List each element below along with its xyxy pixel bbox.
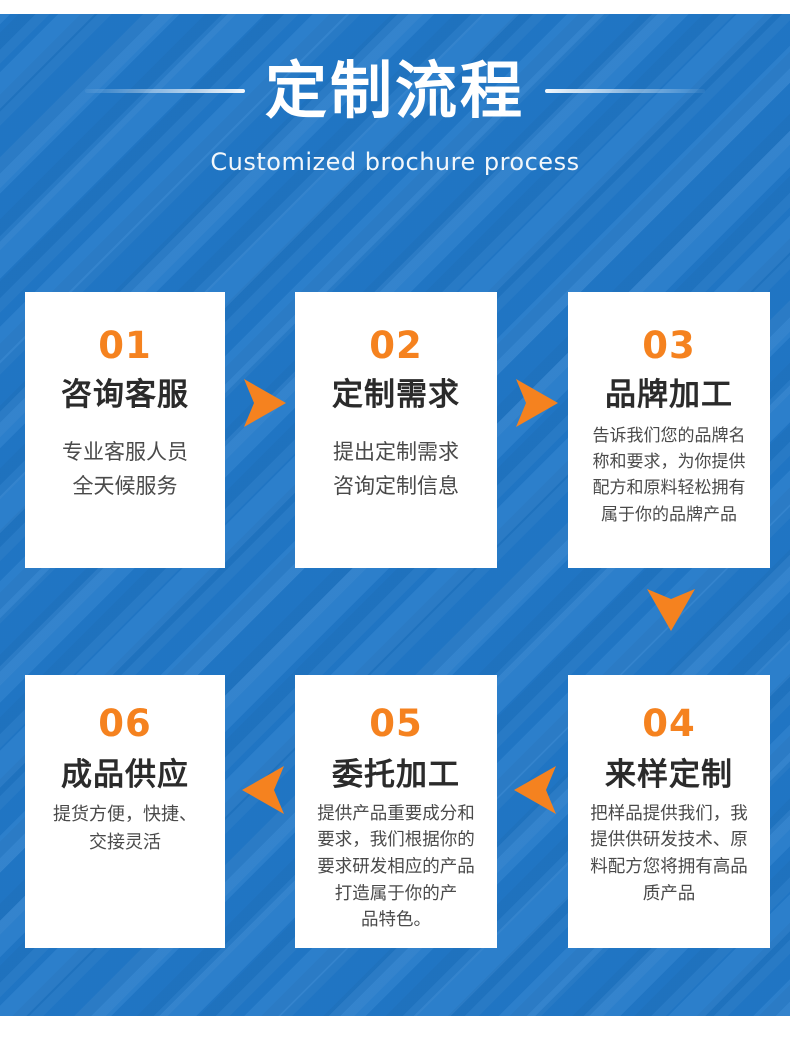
desc-line: 全天候服务 [35,469,215,504]
arrow-left-icon [512,762,560,818]
step-description: 专业客服人员 全天候服务 [35,435,215,504]
steps-row-top: 01 咨询客服 专业客服人员 全天候服务 02 定制需求 提出定制需求 咨询定制… [0,292,790,568]
step-card-04[interactable]: 04 来样定制 把样品提供我们，我 提供供研发技术、原 料配方您将拥有高品 质产… [568,675,770,948]
step-title: 委托加工 [305,758,487,793]
page-subtitle: Customized brochure process [0,148,790,176]
step-card-02[interactable]: 02 定制需求 提出定制需求 咨询定制信息 [295,292,497,568]
desc-line: 提供供研发技术、原 [578,827,760,854]
desc-line: 配方和原料轻松拥有 [578,475,760,501]
desc-line: 要求，我们根据你的 [305,827,487,854]
steps-row-bottom: 06 成品供应 提货方便，快捷、 交接灵活 05 委托加工 提供产品重要成分和 … [0,675,790,948]
step-title: 来样定制 [578,758,760,793]
step-number: 01 [35,327,215,364]
desc-line: 质产品 [578,881,760,908]
arrow-right-icon [512,375,560,431]
desc-line: 告诉我们您的品牌名 [578,423,760,449]
desc-line: 料配方您将拥有高品 [578,854,760,881]
header: 定制流程 Customized brochure process [0,60,790,176]
step-number: 03 [578,327,760,364]
desc-line: 提出定制需求 [305,435,487,470]
decorative-line-left [85,89,245,93]
desc-line: 提货方便，快捷、 [35,801,215,829]
step-description: 提货方便，快捷、 交接灵活 [35,801,215,857]
step-description: 提出定制需求 咨询定制信息 [305,435,487,504]
desc-line: 专业客服人员 [35,435,215,470]
step-title: 成品供应 [35,758,215,793]
desc-line: 咨询定制信息 [305,469,487,504]
step-number: 02 [305,327,487,364]
desc-line: 要求研发相应的产品 [305,854,487,881]
step-description: 告诉我们您的品牌名 称和要求，为你提供 配方和原料轻松拥有 属于你的品牌产品 [578,423,760,528]
step-description: 把样品提供我们，我 提供供研发技术、原 料配方您将拥有高品 质产品 [578,801,760,907]
step-card-01[interactable]: 01 咨询客服 专业客服人员 全天候服务 [25,292,225,568]
decorative-line-right [545,89,705,93]
step-number: 05 [305,705,487,742]
arrow-left-icon [240,762,288,818]
desc-line: 品特色。 [305,907,487,934]
desc-line: 打造属于你的产 [305,881,487,908]
step-description: 提供产品重要成分和 要求，我们根据你的 要求研发相应的产品 打造属于你的产 品特… [305,801,487,934]
page-title: 定制流程 [265,60,525,122]
arrow-right-icon [240,375,288,431]
customization-process-banner: 定制流程 Customized brochure process 01 咨询客服… [0,0,790,1058]
step-number: 06 [35,705,215,742]
step-number: 04 [578,705,760,742]
arrow-down-icon [643,585,699,633]
desc-line: 交接灵活 [35,829,215,857]
step-title: 品牌加工 [578,378,760,413]
desc-line: 提供产品重要成分和 [305,801,487,828]
desc-line: 称和要求，为你提供 [578,449,760,475]
title-row: 定制流程 [0,60,790,122]
step-title: 定制需求 [305,378,487,413]
desc-line: 属于你的品牌产品 [578,502,760,528]
step-card-03[interactable]: 03 品牌加工 告诉我们您的品牌名 称和要求，为你提供 配方和原料轻松拥有 属于… [568,292,770,568]
step-card-05[interactable]: 05 委托加工 提供产品重要成分和 要求，我们根据你的 要求研发相应的产品 打造… [295,675,497,948]
step-title: 咨询客服 [35,378,215,413]
step-card-06[interactable]: 06 成品供应 提货方便，快捷、 交接灵活 [25,675,225,948]
desc-line: 把样品提供我们，我 [578,801,760,828]
